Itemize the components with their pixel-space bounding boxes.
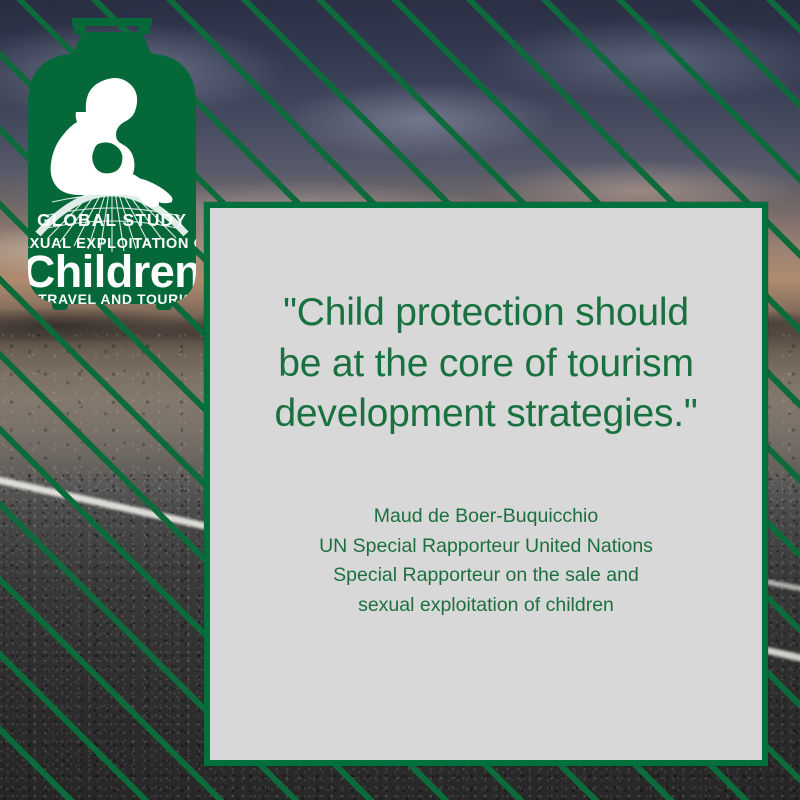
logo-wordmark: GLOBAL STUDY SEXUAL EXPLOITATION OF Chil… xyxy=(12,210,212,307)
quote-line-3: development strategies." xyxy=(274,389,697,440)
logo-line-children: Children xyxy=(23,246,202,297)
quote-text: "Child protection should be at the core … xyxy=(274,288,697,440)
quote-card: "Child protection should be at the core … xyxy=(204,202,768,766)
attribution-title-line-3: sexual exploitation of children xyxy=(319,591,653,621)
quote-card-inner: "Child protection should be at the core … xyxy=(212,210,760,758)
quote-line-2: be at the core of tourism xyxy=(274,339,697,390)
quote-attribution: Maud de Boer-Buquicchio UN Special Rappo… xyxy=(319,502,653,621)
logo-line-global-study: GLOBAL STUDY xyxy=(37,210,187,230)
attribution-title-line-2: Special Rapporteur on the sale and xyxy=(319,561,653,591)
poster-canvas: GLOBAL STUDY SEXUAL EXPLOITATION OF Chil… xyxy=(0,0,800,800)
logo-line-travel-tourism: IN TRAVEL AND TOURISM xyxy=(18,291,205,307)
attribution-title-line-1: UN Special Rapporteur United Nations xyxy=(319,532,653,562)
quote-line-1: "Child protection should xyxy=(274,288,697,339)
global-study-logo: GLOBAL STUDY SEXUAL EXPLOITATION OF Chil… xyxy=(12,2,212,332)
attribution-name: Maud de Boer-Buquicchio xyxy=(319,502,653,532)
